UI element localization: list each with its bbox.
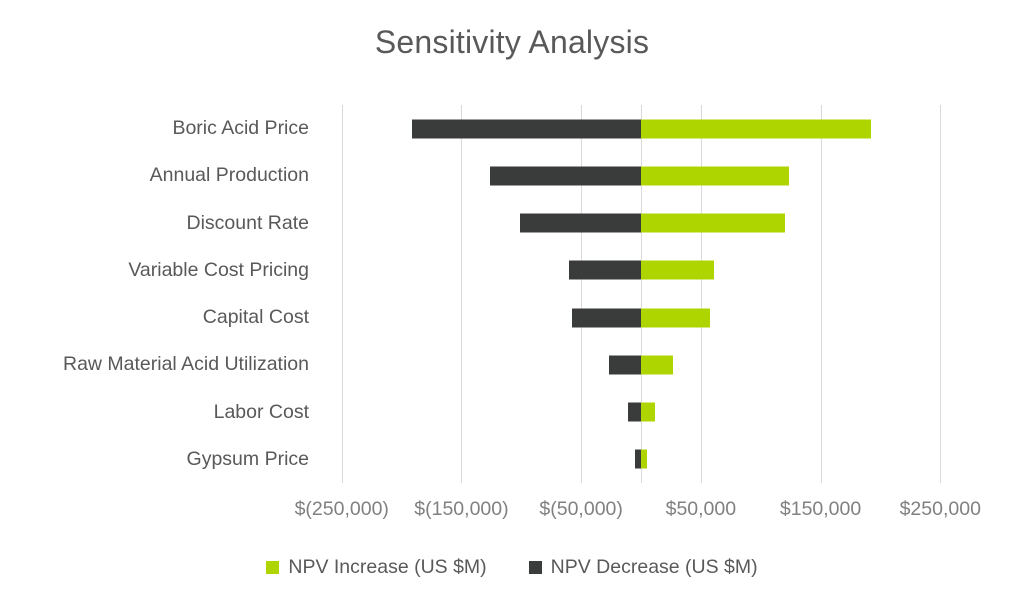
bar-npv-decrease[interactable] [609, 355, 641, 374]
legend-swatch-icon [266, 561, 279, 574]
category-label: Capital Cost [0, 294, 330, 341]
legend-item[interactable]: NPV Decrease (US $M) [529, 556, 758, 579]
bar-npv-increase[interactable] [641, 166, 789, 185]
legend-item[interactable]: NPV Increase (US $M) [266, 556, 486, 579]
legend-label: NPV Increase (US $M) [288, 556, 486, 579]
category-label: Gypsum Price [0, 436, 330, 483]
x-tick-label: $(50,000) [539, 498, 622, 521]
bar-npv-increase[interactable] [641, 308, 710, 327]
bar-row [342, 152, 939, 199]
category-label: Labor Cost [0, 389, 330, 436]
bar-npv-decrease[interactable] [520, 214, 641, 233]
category-label: Variable Cost Pricing [0, 247, 330, 294]
category-label: Annual Production [0, 152, 330, 199]
bar-npv-increase[interactable] [641, 355, 673, 374]
bar-npv-increase[interactable] [641, 450, 647, 469]
bar-rows [342, 105, 939, 483]
x-axis-tick-labels: $(250,000)$(150,000)$(50,000)$50,000$150… [0, 498, 1024, 530]
bar-npv-decrease[interactable] [490, 166, 641, 185]
bar-row [342, 200, 939, 247]
category-label: Boric Acid Price [0, 105, 330, 152]
bar-npv-decrease[interactable] [569, 261, 641, 280]
x-tick-label: $50,000 [666, 498, 737, 521]
chart-title: Sensitivity Analysis [0, 24, 1024, 61]
bar-row [342, 294, 939, 341]
x-tick-label: $250,000 [900, 498, 981, 521]
bar-npv-increase[interactable] [641, 403, 655, 422]
bar-npv-decrease[interactable] [628, 403, 641, 422]
bar-npv-decrease[interactable] [412, 119, 641, 138]
gridline [940, 105, 941, 483]
bar-row [342, 389, 939, 436]
category-label: Raw Material Acid Utilization [0, 341, 330, 388]
bar-npv-decrease[interactable] [572, 308, 641, 327]
x-tick-label: $(250,000) [295, 498, 389, 521]
bar-row [342, 247, 939, 294]
legend-swatch-icon [529, 561, 542, 574]
bar-row [342, 436, 939, 483]
legend-label: NPV Decrease (US $M) [551, 556, 758, 579]
bar-row [342, 105, 939, 152]
category-label: Discount Rate [0, 200, 330, 247]
bar-row [342, 341, 939, 388]
x-tick-label: $150,000 [780, 498, 861, 521]
category-axis: Boric Acid PriceAnnual ProductionDiscoun… [0, 105, 330, 483]
chart-legend: NPV Increase (US $M)NPV Decrease (US $M) [0, 556, 1024, 579]
bar-npv-increase[interactable] [641, 214, 785, 233]
plot-area [342, 105, 939, 483]
bar-npv-increase[interactable] [641, 119, 871, 138]
bar-npv-increase[interactable] [641, 261, 714, 280]
sensitivity-analysis-chart: Sensitivity Analysis Boric Acid PriceAnn… [0, 0, 1024, 614]
x-tick-label: $(150,000) [414, 498, 508, 521]
